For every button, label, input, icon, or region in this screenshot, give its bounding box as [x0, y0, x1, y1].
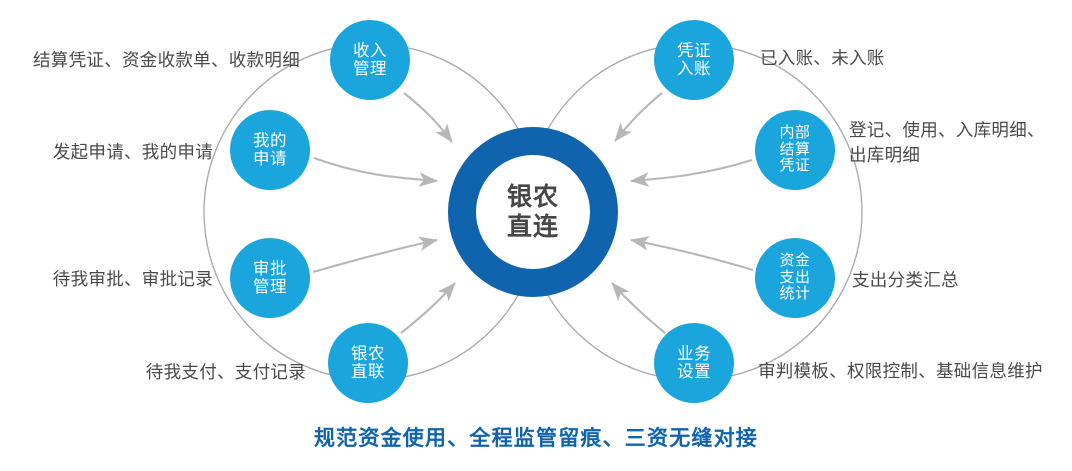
label-internal-settlement-voucher: 登记、使用、入库明细、 出库明细 — [849, 118, 1045, 169]
label-internal-settlement-voucher-line-2: 出库明细 — [849, 143, 1045, 168]
node-label-line: 申请 — [253, 150, 287, 168]
node-bank-farm-direct-link[interactable]: 银农 直联 — [328, 323, 408, 403]
label-income-management: 结算凭证、资金收款单、收款明细 — [0, 48, 300, 73]
node-label-line: 结算 — [779, 142, 810, 159]
node-my-application[interactable]: 我的 申请 — [230, 110, 310, 190]
node-label-line: 审批 — [253, 260, 287, 278]
label-business-settings: 审判模板、权限控制、基础信息维护 — [758, 359, 1043, 384]
node-voucher-posting[interactable]: 凭证 入账 — [654, 20, 734, 100]
node-label-line: 我的 — [253, 132, 287, 150]
arrow-my-application — [314, 158, 437, 181]
arrow-business-settings — [612, 283, 665, 333]
arrow-voucher-posting — [615, 93, 662, 141]
node-label-line: 凭证 — [677, 42, 711, 60]
node-label-line: 资金 — [779, 253, 810, 270]
node-internal-settlement-voucher[interactable]: 内部 结算 凭证 — [755, 110, 835, 190]
tagline: 规范资金使用、全程监管留痕、三资无缝对接 — [0, 422, 1072, 452]
hub-label-line-1: 银农 — [507, 182, 559, 213]
hub-node[interactable]: 银农 直连 — [448, 127, 618, 297]
arrow-internal-settlement-voucher — [631, 160, 752, 181]
node-label-line: 管理 — [253, 278, 287, 296]
arrow-income-management — [404, 93, 452, 142]
node-label-line: 入账 — [677, 60, 711, 78]
hub-label-line-2: 直连 — [507, 212, 559, 243]
node-approval-management[interactable]: 审批 管理 — [230, 238, 310, 318]
node-label-line: 业务 — [677, 345, 711, 363]
node-label-line: 内部 — [779, 125, 810, 142]
label-bank-farm-direct-link: 待我支付、支付记录 — [0, 360, 306, 385]
node-income-management[interactable]: 收入 管理 — [330, 20, 410, 100]
arrow-bank-farm-direct-link — [401, 283, 455, 333]
node-label-line: 银农 — [351, 345, 385, 363]
node-label-line: 设置 — [677, 363, 711, 381]
label-fund-expenditure-statistics: 支出分类汇总 — [852, 268, 959, 293]
node-label-line: 凭证 — [779, 158, 810, 175]
label-voucher-posting: 已入账、未入账 — [760, 46, 885, 71]
arrow-approval-management — [313, 240, 437, 272]
arrow-fund-expenditure-statistics — [631, 240, 753, 270]
node-label-line: 管理 — [353, 60, 387, 78]
label-my-application: 发起申请、我的申请 — [0, 140, 213, 165]
node-label-line: 直联 — [351, 363, 385, 381]
node-label-line: 收入 — [353, 42, 387, 60]
arrows-right — [612, 93, 753, 333]
node-label-line: 支出 — [779, 270, 810, 287]
label-internal-settlement-voucher-line-1: 登记、使用、入库明细、 — [849, 118, 1045, 143]
hub-label: 银农 直连 — [507, 182, 559, 243]
node-label-line: 统计 — [779, 286, 810, 303]
node-fund-expenditure-statistics[interactable]: 资金 支出 统计 — [755, 238, 835, 318]
diagram-canvas: 银农 直连 收入 管理 我的 申请 审批 管理 银农 直联 凭证 入账 内部 结… — [0, 0, 1072, 471]
node-business-settings[interactable]: 业务 设置 — [654, 323, 734, 403]
arrows-left — [313, 93, 455, 333]
label-approval-management: 待我审批、审批记录 — [0, 267, 213, 292]
